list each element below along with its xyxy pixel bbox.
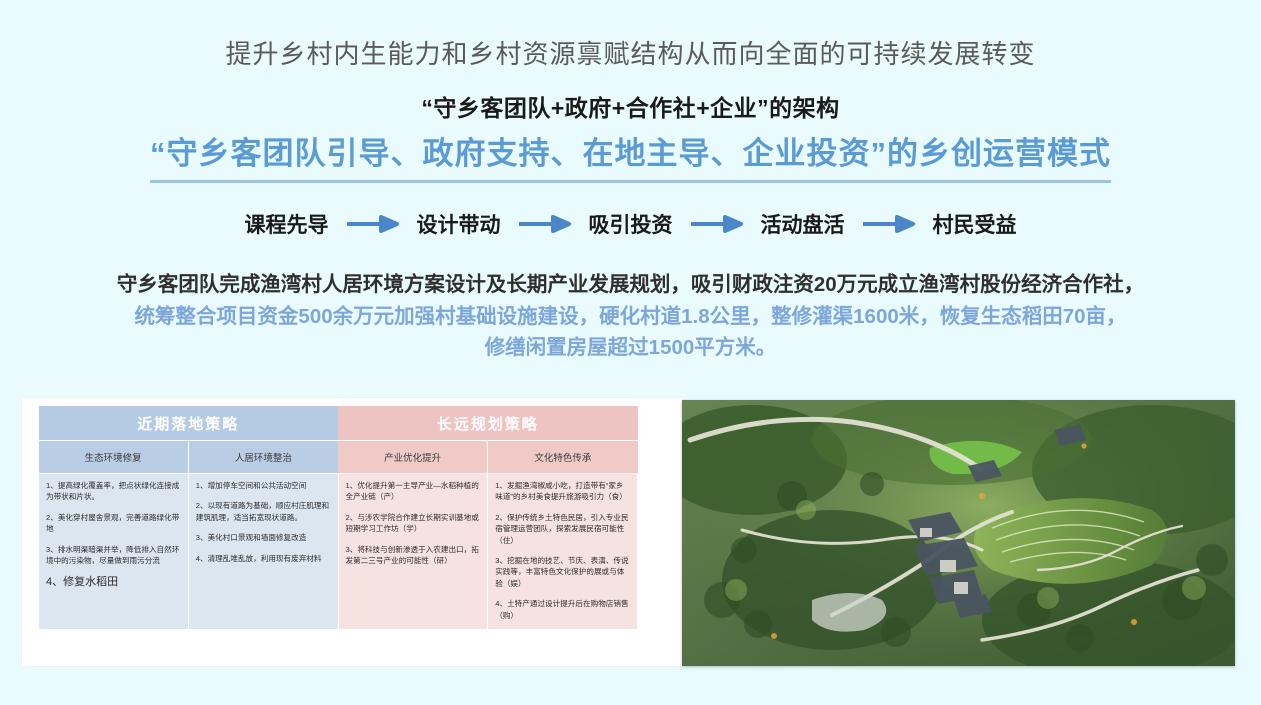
cell-item: 3、挖掘在地的技艺、节庆、表演、传说实践等，丰富特色文化保护的展或与体验（娱）	[495, 555, 630, 589]
cell-item: 3、将科技与创新渗透于入农建出口，拓发第二三号产业的可能性（研）	[346, 544, 481, 567]
cell-item: 2、美化穿村屋舍景观，完善道路绿化带地	[46, 512, 181, 535]
cell-item: 2、与涉农学院合作建立长期实训基地或短期学习工作坊（学）	[346, 512, 481, 535]
flow-step-4: 活动盘活	[761, 209, 845, 239]
arrow-right-icon	[517, 213, 573, 235]
aerial-village-photo	[682, 400, 1235, 666]
bottom-section: 近期落地策略 长远规划策略 生态环境修复 人居环境整治 产业优化提升 文化特色传…	[0, 398, 1261, 668]
architecture-subtitle: “守乡客团队+政府+合作社+企业”的架构	[0, 89, 1261, 123]
cell-item: 1、提高绿化覆盖率，把点状绿化连接成为带状和片状。	[46, 480, 181, 503]
flow-step-3: 吸引投资	[589, 209, 673, 239]
group-header-long-term: 长远规划策略	[338, 406, 638, 441]
cell-item: 4、清理乱堆乱放，利用现有废弃材料	[196, 553, 331, 564]
table-group-header-row: 近期落地策略 长远规划策略	[39, 406, 638, 441]
column-header-industry-upgrade: 产业优化提升	[338, 441, 488, 474]
column-header-eco-restoration: 生态环境修复	[39, 441, 189, 474]
cell-item: 3、美化村口景观和墙面修复改造	[196, 532, 331, 543]
column-header-culture-heritage: 文化特色传承	[488, 441, 638, 474]
flow-step-1: 课程先导	[245, 209, 329, 239]
arrow-right-icon	[689, 213, 745, 235]
paragraph-line-2: 统筹整合项目资金500余万元加强村基础设施建设，硬化村道1.8公里，整修灌渠16…	[18, 301, 1243, 333]
paragraph-line-1: 守乡客团队完成渔湾村人居环境方案设计及长期产业发展规划，吸引财政注资20万元成立…	[18, 269, 1243, 301]
page-title: 提升乡村内生能力和乡村资源禀赋结构从而向全面的可持续发展转变	[0, 0, 1261, 71]
cell-living-env: 1、增加停车空间和公共活动空间 2、以现有道路为基础，顺应村庄肌理和建筑肌理，适…	[188, 474, 338, 630]
achievements-paragraph: 守乡客团队完成渔湾村人居环境方案设计及长期产业发展规划，吸引财政注资20万元成立…	[0, 269, 1261, 364]
cell-item: 1、优化提升第一主导产业—水稻种植的全产业链（产）	[346, 480, 481, 503]
cell-item: 3、排水明渠暗渠并举，降低排入自然环境中的污染物，尽量做到雨污分流	[46, 544, 181, 567]
cell-industry-upgrade: 1、优化提升第一主导产业—水稻种植的全产业链（产） 2、与涉农学院合作建立长期实…	[338, 474, 488, 630]
paragraph-line-3: 修缮闲置房屋超过1500平方米。	[18, 332, 1243, 364]
cell-eco-restoration: 1、提高绿化覆盖率，把点状绿化连接成为带状和片状。 2、美化穿村屋舍景观，完善道…	[39, 474, 189, 630]
cell-item: 4、修复水稻田	[46, 575, 181, 589]
flow-step-2: 设计带动	[417, 209, 501, 239]
group-header-near-term: 近期落地策略	[39, 406, 339, 441]
process-flow: 课程先导 设计带动 吸引投资 活动盘活 村民受益	[0, 209, 1261, 239]
cell-item: 1、增加停车空间和公共活动空间	[196, 480, 331, 491]
strategy-table-panel: 近期落地策略 长远规划策略 生态环境修复 人居环境整治 产业优化提升 文化特色传…	[22, 398, 683, 666]
arrow-right-icon	[861, 213, 917, 235]
flow-step-5: 村民受益	[933, 209, 1017, 239]
cell-item: 2、以现有道路为基础，顺应村庄肌理和建筑肌理，适当拓宽现状道路。	[196, 500, 331, 523]
cell-item: 4、土特产通过设计提升后在购物店销售（购）	[495, 598, 630, 621]
table-row: 1、提高绿化覆盖率，把点状绿化连接成为带状和片状。 2、美化穿村屋舍景观，完善道…	[39, 474, 638, 630]
column-header-living-env: 人居环境整治	[188, 441, 338, 474]
cell-item: 2、保护传统乡土特色民居，引入专业民宿管理运营团队，探索发展民宿可能性（住）	[495, 512, 630, 546]
strategy-table: 近期落地策略 长远规划策略 生态环境修复 人居环境整治 产业优化提升 文化特色传…	[38, 406, 638, 630]
table-column-header-row: 生态环境修复 人居环境整治 产业优化提升 文化特色传承	[39, 441, 638, 474]
operating-model-row: “守乡客团队引导、政府支持、在地主导、企业投资”的乡创运营模式	[0, 135, 1261, 183]
operating-model-title: “守乡客团队引导、政府支持、在地主导、企业投资”的乡创运营模式	[150, 135, 1111, 183]
cell-culture-heritage: 1、发掘渔湾椒咸小吃，打造带有“家乡味道”的乡村美食提升旅游吸引力（食） 2、保…	[488, 474, 638, 630]
arrow-right-icon	[345, 213, 401, 235]
cell-item: 1、发掘渔湾椒咸小吃，打造带有“家乡味道”的乡村美食提升旅游吸引力（食）	[495, 480, 630, 503]
